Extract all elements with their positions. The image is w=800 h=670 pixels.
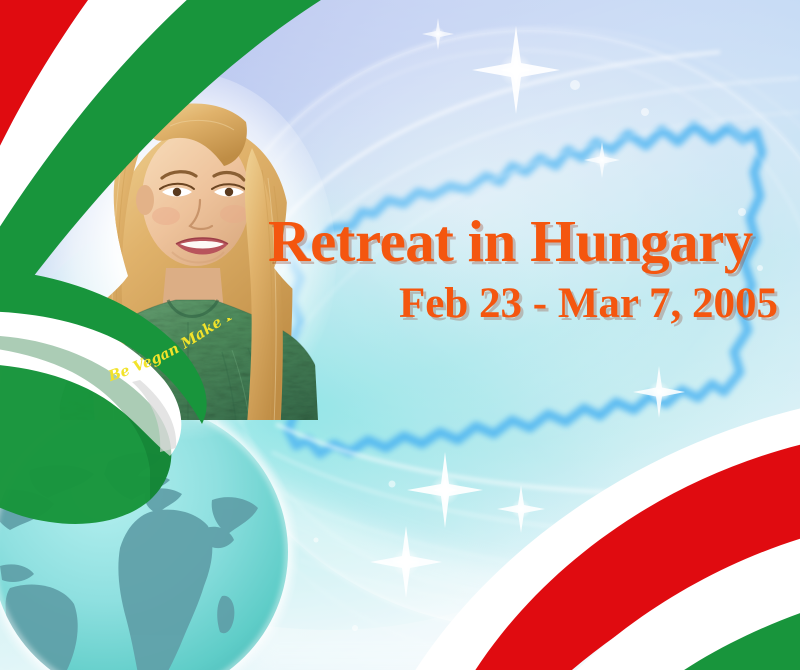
poster-canvas: Retreat in Hungary Feb 23 - Mar 7, 2005 … [0,0,800,670]
poster-artwork [0,0,800,670]
